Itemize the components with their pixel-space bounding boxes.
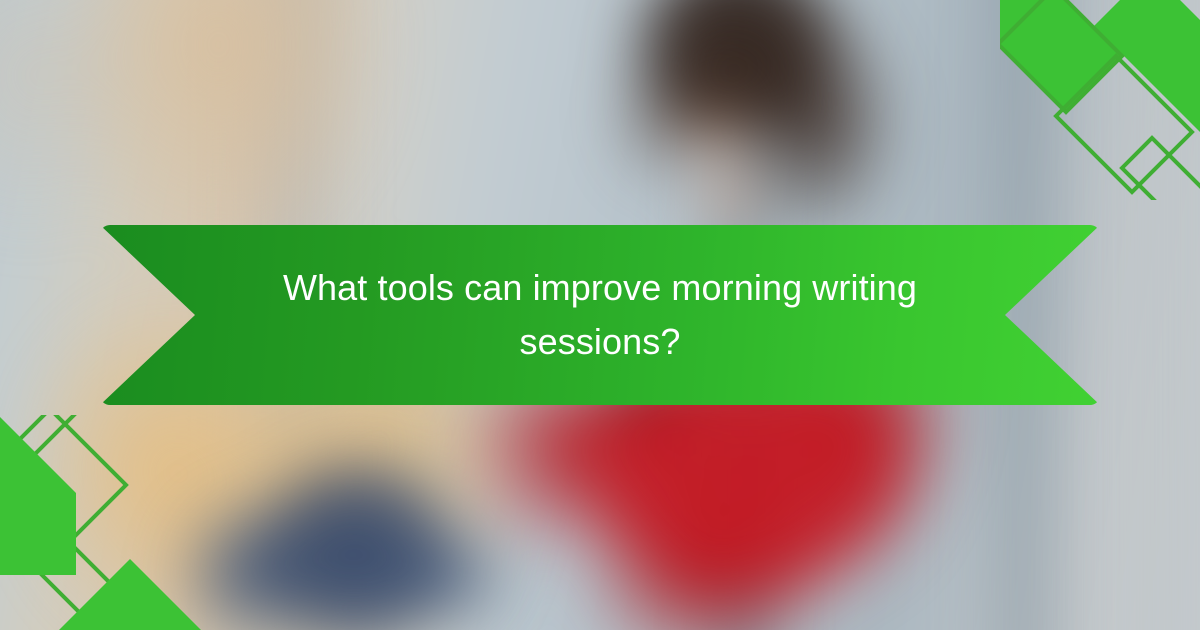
banner-heading: What tools can improve morning writing s…	[260, 261, 940, 369]
question-banner: What tools can improve morning writing s…	[100, 225, 1100, 405]
share-card-canvas: What tools can improve morning writing s…	[0, 0, 1200, 630]
